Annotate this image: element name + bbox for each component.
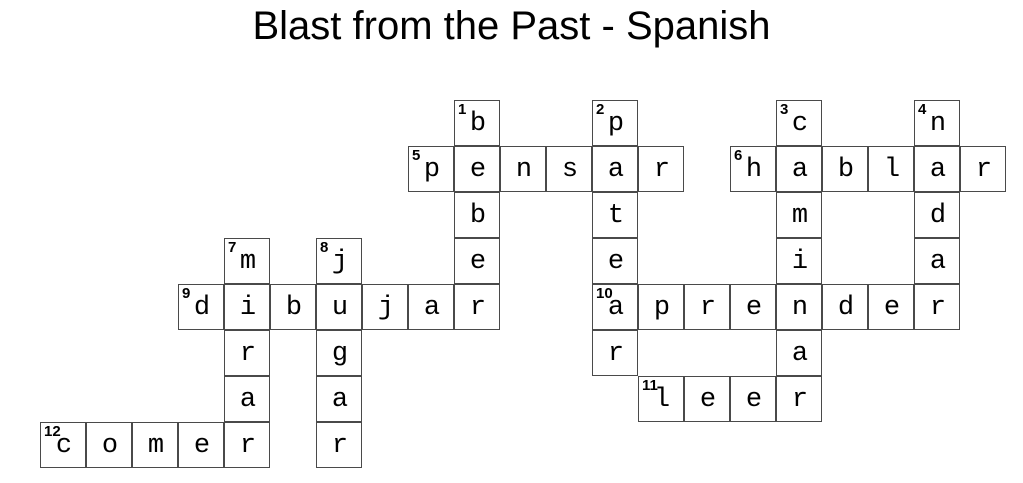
- cell-number: 6: [734, 148, 742, 163]
- cell-letter: r: [685, 285, 731, 331]
- crossword-cell[interactable]: a: [776, 146, 822, 192]
- cell-letter: r: [455, 285, 501, 331]
- crossword-cell[interactable]: m: [132, 422, 178, 468]
- crossword-cell[interactable]: r: [638, 146, 684, 192]
- crossword-cell[interactable]: e: [592, 238, 638, 284]
- cell-letter: a: [777, 147, 823, 193]
- cell-number: 2: [596, 102, 604, 117]
- crossword-cell[interactable]: r: [224, 330, 270, 376]
- crossword-cell[interactable]: i: [776, 238, 822, 284]
- cell-letter: r: [317, 423, 363, 469]
- cell-letter: i: [777, 239, 823, 285]
- crossword-cell[interactable]: 7m: [224, 238, 270, 284]
- crossword-cell[interactable]: e: [178, 422, 224, 468]
- crossword-cell[interactable]: l: [868, 146, 914, 192]
- cell-number: 10: [596, 286, 613, 301]
- cell-letter: m: [133, 423, 179, 469]
- cell-letter: l: [869, 147, 915, 193]
- crossword-grid: 1b2p3c4n5pensar6hablarbtmd7m8jeeia9dibuj…: [0, 0, 1023, 483]
- cell-letter: u: [317, 285, 363, 331]
- cell-number: 4: [918, 102, 926, 117]
- cell-letter: n: [777, 285, 823, 331]
- cell-letter: r: [639, 147, 685, 193]
- cell-number: 1: [458, 102, 466, 117]
- cell-letter: a: [409, 285, 455, 331]
- cell-letter: n: [501, 147, 547, 193]
- crossword-cell[interactable]: a: [914, 146, 960, 192]
- cell-letter: r: [915, 285, 961, 331]
- crossword-cell[interactable]: s: [546, 146, 592, 192]
- crossword-cell[interactable]: m: [776, 192, 822, 238]
- crossword-cell[interactable]: r: [776, 376, 822, 422]
- cell-letter: e: [731, 377, 777, 423]
- crossword-cell[interactable]: p: [638, 284, 684, 330]
- cell-letter: b: [271, 285, 317, 331]
- crossword-cell[interactable]: j: [362, 284, 408, 330]
- cell-number: 3: [780, 102, 788, 117]
- crossword-cell[interactable]: o: [86, 422, 132, 468]
- cell-letter: e: [455, 239, 501, 285]
- crossword-cell[interactable]: r: [224, 422, 270, 468]
- cell-number: 11: [642, 378, 658, 393]
- crossword-cell[interactable]: a: [316, 376, 362, 422]
- crossword-cell[interactable]: n: [776, 284, 822, 330]
- crossword-cell[interactable]: 12c: [40, 422, 86, 468]
- crossword-cell[interactable]: 4n: [914, 100, 960, 146]
- crossword-cell[interactable]: r: [454, 284, 500, 330]
- cell-letter: e: [731, 285, 777, 331]
- crossword-cell[interactable]: b: [454, 192, 500, 238]
- crossword-cell[interactable]: d: [822, 284, 868, 330]
- cell-letter: g: [317, 331, 363, 377]
- cell-letter: r: [961, 147, 1007, 193]
- crossword-cell[interactable]: u: [316, 284, 362, 330]
- crossword-cell[interactable]: a: [224, 376, 270, 422]
- crossword-cell[interactable]: e: [454, 146, 500, 192]
- crossword-cell[interactable]: r: [316, 422, 362, 468]
- cell-letter: t: [593, 193, 639, 239]
- crossword-cell[interactable]: 6h: [730, 146, 776, 192]
- cell-letter: a: [777, 331, 823, 377]
- cell-number: 12: [44, 424, 61, 439]
- crossword-cell[interactable]: b: [270, 284, 316, 330]
- cell-letter: d: [823, 285, 869, 331]
- cell-letter: p: [639, 285, 685, 331]
- cell-letter: b: [455, 193, 501, 239]
- cell-letter: a: [915, 239, 961, 285]
- crossword-cell[interactable]: r: [592, 330, 638, 376]
- cell-letter: r: [777, 377, 823, 423]
- crossword-cell[interactable]: a: [776, 330, 822, 376]
- cell-number: 7: [228, 240, 236, 255]
- crossword-cell[interactable]: 8j: [316, 238, 362, 284]
- cell-number: 8: [320, 240, 328, 255]
- cell-letter: r: [225, 423, 271, 469]
- cell-letter: m: [777, 193, 823, 239]
- crossword-cell[interactable]: a: [592, 146, 638, 192]
- cell-letter: e: [869, 285, 915, 331]
- crossword-cell[interactable]: i: [224, 284, 270, 330]
- crossword-cell[interactable]: 9d: [178, 284, 224, 330]
- crossword-cell[interactable]: r: [960, 146, 1006, 192]
- crossword-cell[interactable]: 10a: [592, 284, 638, 330]
- crossword-cell[interactable]: a: [408, 284, 454, 330]
- cell-letter: e: [455, 147, 501, 193]
- crossword-cell[interactable]: 5p: [408, 146, 454, 192]
- crossword-cell[interactable]: 1b: [454, 100, 500, 146]
- crossword-cell[interactable]: e: [454, 238, 500, 284]
- crossword-cell[interactable]: r: [684, 284, 730, 330]
- cell-letter: a: [593, 147, 639, 193]
- cell-letter: a: [915, 147, 961, 193]
- crossword-cell[interactable]: e: [684, 376, 730, 422]
- crossword-cell[interactable]: g: [316, 330, 362, 376]
- cell-letter: e: [593, 239, 639, 285]
- crossword-cell[interactable]: r: [914, 284, 960, 330]
- cell-letter: s: [547, 147, 593, 193]
- cell-letter: e: [179, 423, 225, 469]
- cell-letter: d: [915, 193, 961, 239]
- cell-letter: a: [225, 377, 271, 423]
- crossword-cell[interactable]: d: [914, 192, 960, 238]
- cell-number: 9: [182, 286, 190, 301]
- crossword-cell[interactable]: b: [822, 146, 868, 192]
- cell-letter: e: [685, 377, 731, 423]
- cell-number: 5: [412, 148, 420, 163]
- cell-letter: a: [317, 377, 363, 423]
- crossword-cell[interactable]: n: [500, 146, 546, 192]
- cell-letter: o: [87, 423, 133, 469]
- crossword-cell[interactable]: 2p: [592, 100, 638, 146]
- cell-letter: r: [225, 331, 271, 377]
- crossword-cell[interactable]: e: [868, 284, 914, 330]
- crossword-cell[interactable]: e: [730, 376, 776, 422]
- cell-letter: i: [225, 285, 271, 331]
- crossword-cell[interactable]: e: [730, 284, 776, 330]
- crossword-cell[interactable]: t: [592, 192, 638, 238]
- crossword-cell[interactable]: 3c: [776, 100, 822, 146]
- crossword-cell[interactable]: 11l: [638, 376, 684, 422]
- crossword-cell[interactable]: a: [914, 238, 960, 284]
- cell-letter: r: [593, 331, 639, 377]
- cell-letter: j: [363, 285, 409, 331]
- cell-letter: b: [823, 147, 869, 193]
